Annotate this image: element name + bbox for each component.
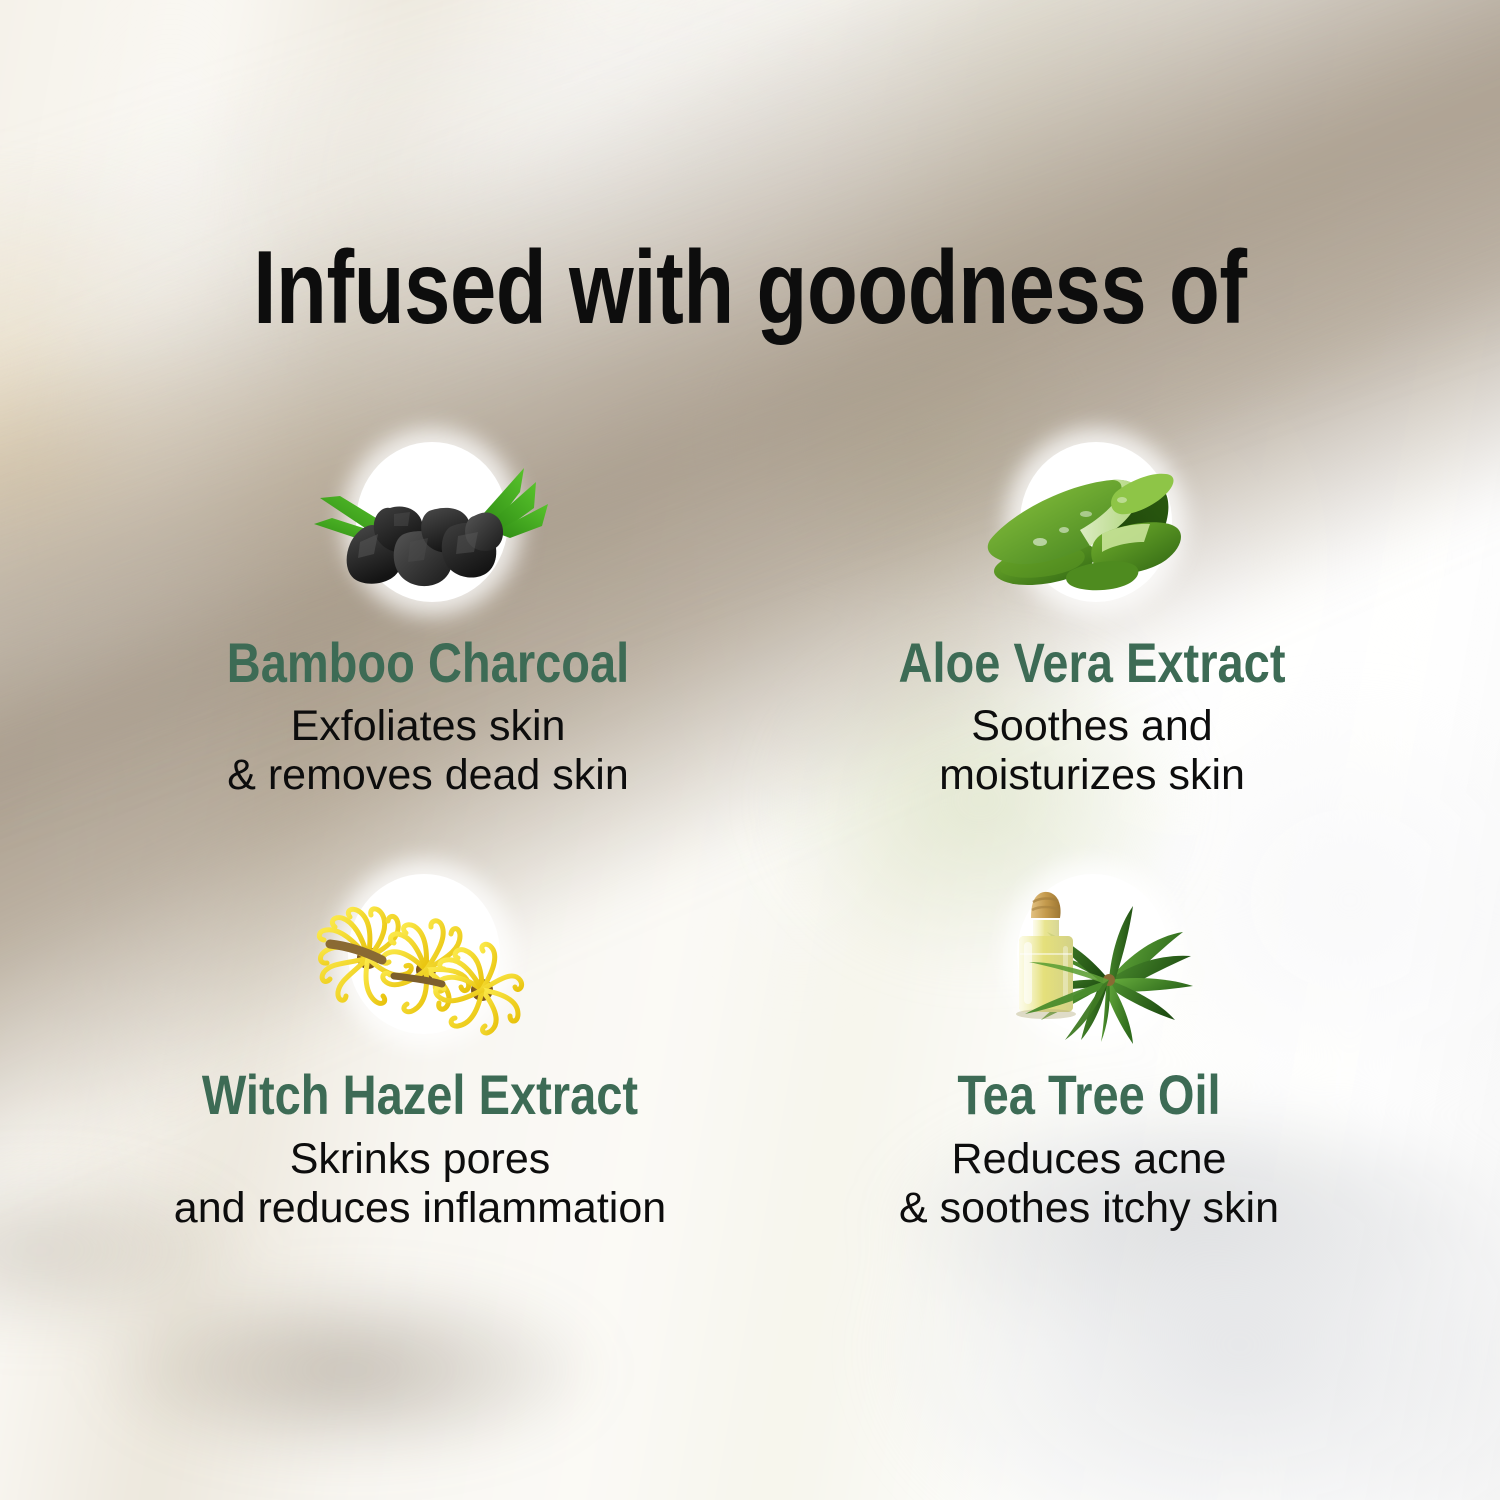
witch-hazel-art	[90, 862, 750, 1052]
ingredient-name: Aloe Vera Extract	[825, 634, 1359, 692]
ingredient-card-aloe-vera: Aloe Vera Extract Soothes and moisturize…	[750, 430, 1410, 800]
ingredient-name: Witch Hazel Extract	[143, 1066, 697, 1124]
ingredient-description: Skrinks pores and reduces inflammation	[90, 1135, 750, 1233]
tea-tree-oil-icon	[959, 862, 1219, 1052]
ingredient-description: Reduces acne & soothes itchy skin	[768, 1135, 1410, 1233]
ingredient-name: Bamboo Charcoal	[158, 634, 699, 692]
aloe-vera-art	[774, 430, 1410, 620]
bamboo-charcoal-icon	[298, 430, 558, 620]
ingredient-description: Soothes and moisturizes skin	[774, 702, 1410, 800]
bamboo-charcoal-art	[106, 430, 750, 620]
witch-hazel-icon	[290, 862, 550, 1052]
ingredient-card-tea-tree-oil: Tea Tree Oil Reduces acne & soothes itch…	[750, 862, 1410, 1232]
tea-tree-oil-art	[768, 862, 1410, 1052]
ingredient-description: Exfoliates skin & removes dead skin	[106, 702, 750, 800]
infographic-canvas: Infused with goodness of	[0, 0, 1500, 1500]
aloe-vera-icon	[962, 430, 1222, 620]
ingredient-grid: Bamboo Charcoal Exfoliates skin & remove…	[90, 430, 1410, 1233]
page-title: Infused with goodness of	[150, 236, 1350, 340]
ingredient-name: Tea Tree Oil	[819, 1066, 1358, 1124]
ingredient-card-witch-hazel: Witch Hazel Extract Skrinks pores and re…	[90, 862, 750, 1232]
ingredient-card-bamboo-charcoal: Bamboo Charcoal Exfoliates skin & remove…	[90, 430, 750, 800]
